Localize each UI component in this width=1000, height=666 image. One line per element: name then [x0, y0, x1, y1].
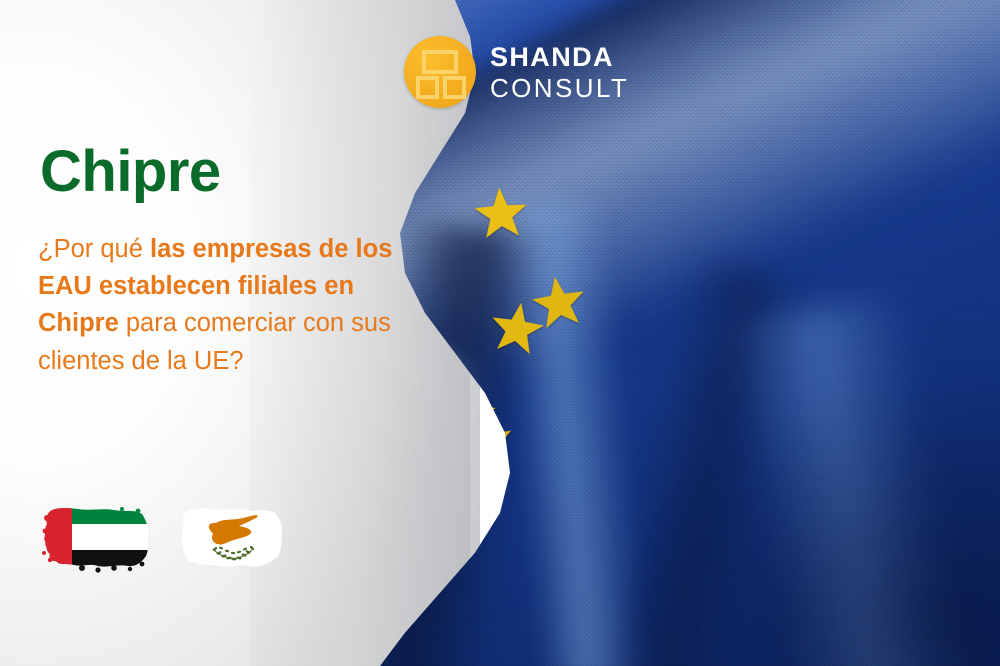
shanda-logo-mark-icon — [404, 36, 476, 108]
logo-shape-bottom-left — [416, 76, 439, 99]
eu-star-icon — [470, 183, 532, 245]
subtitle-question: ¿Por qué las empresas de los EAU estable… — [38, 231, 398, 380]
logo-line-consult: CONSULT — [490, 75, 629, 101]
logo-shape-bottom-right — [443, 76, 466, 99]
page-title: Chipre — [40, 143, 221, 201]
uae-flag-icon — [42, 498, 152, 576]
country-flags — [42, 498, 288, 576]
shanda-consult-logo[interactable]: SHANDA CONSULT — [404, 36, 629, 108]
subtitle-segment-regular-lead: ¿Por qué — [38, 235, 150, 263]
cyprus-flag-icon — [178, 498, 288, 576]
logo-shape-top — [422, 50, 458, 74]
logo-wordmark: SHANDA CONSULT — [490, 44, 629, 101]
eu-star-icon — [526, 270, 592, 336]
banner: SHANDA CONSULT Chipre ¿Por qué las empre… — [0, 0, 1000, 666]
logo-line-shanda: SHANDA — [490, 44, 629, 71]
